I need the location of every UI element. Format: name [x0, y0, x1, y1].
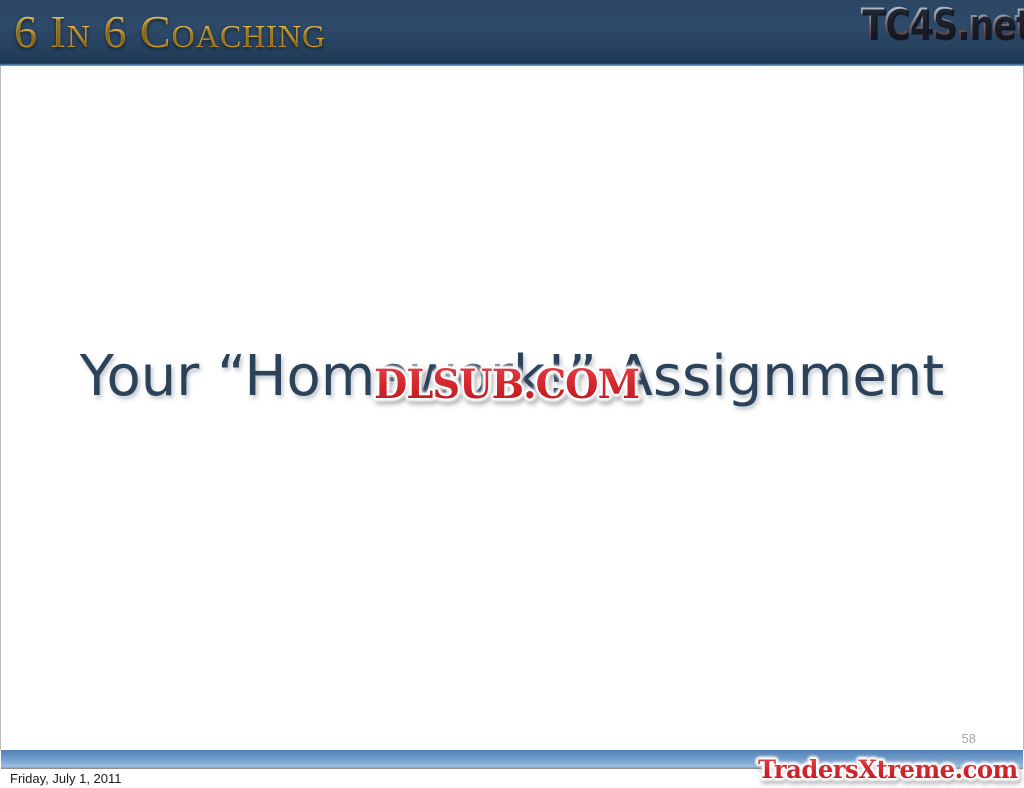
slide-body: Your “Homework!” Assignment — [0, 66, 1024, 750]
tc4s-site-logo: TC4S.net — [861, 0, 1024, 50]
slide-header-banner: 6 In 6 Coaching TC4S.net — [0, 0, 1024, 66]
slide-page-number: 58 — [962, 731, 976, 747]
dlsub-watermark: DLSUB.COM — [374, 364, 639, 406]
presentation-slide: 6 In 6 Coaching TC4S.net Your “Homework!… — [0, 0, 1024, 788]
brand-title: 6 In 6 Coaching — [14, 4, 326, 60]
slide-date: Friday, July 1, 2011 — [10, 771, 122, 787]
tradersxtreme-watermark: TradersXtreme.com — [758, 755, 1018, 785]
